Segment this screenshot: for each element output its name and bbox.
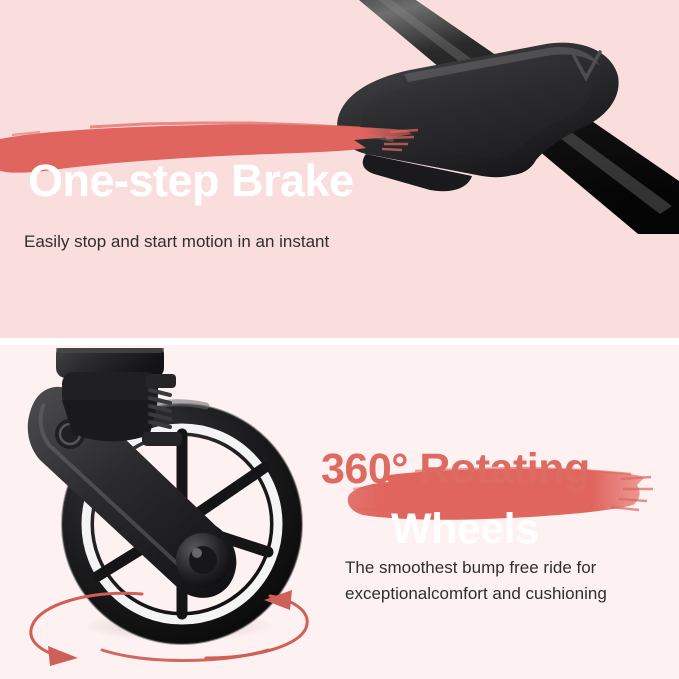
wheel-tire bbox=[62, 403, 302, 644]
panel-brake: One-step Brake Easily stop and start mot… bbox=[0, 0, 679, 338]
rotation-arrowhead-right bbox=[264, 590, 292, 610]
wheel-shadow bbox=[82, 611, 274, 641]
frame-tube bbox=[328, 0, 679, 234]
brake-product-image bbox=[300, 0, 679, 234]
caster-swivel-housing bbox=[56, 348, 182, 446]
wheels-headline-line2: Wheels bbox=[391, 508, 539, 551]
brake-pedal bbox=[337, 43, 618, 192]
brake-headline: One-step Brake bbox=[28, 158, 354, 203]
suspension-spring bbox=[150, 390, 170, 427]
panel-wheels: 360° Rotating Wheels The smoothest bump … bbox=[0, 345, 679, 679]
rotation-arrows-indicator bbox=[6, 588, 336, 668]
rotation-arrowhead-left bbox=[48, 646, 78, 666]
wheels-headline-line1: 360° Rotating bbox=[321, 448, 590, 491]
caster-fork-arm bbox=[28, 387, 237, 598]
panel-divider bbox=[0, 338, 679, 345]
brake-collar bbox=[461, 101, 550, 188]
wheels-body-text: The smoothest bump free ride for excepti… bbox=[345, 555, 665, 608]
caster-wheel-product-image bbox=[10, 348, 340, 658]
brake-body-text: Easily stop and start motion in an insta… bbox=[24, 229, 329, 255]
product-feature-image: One-step Brake Easily stop and start mot… bbox=[0, 0, 679, 679]
wheel-spokes bbox=[98, 434, 268, 614]
